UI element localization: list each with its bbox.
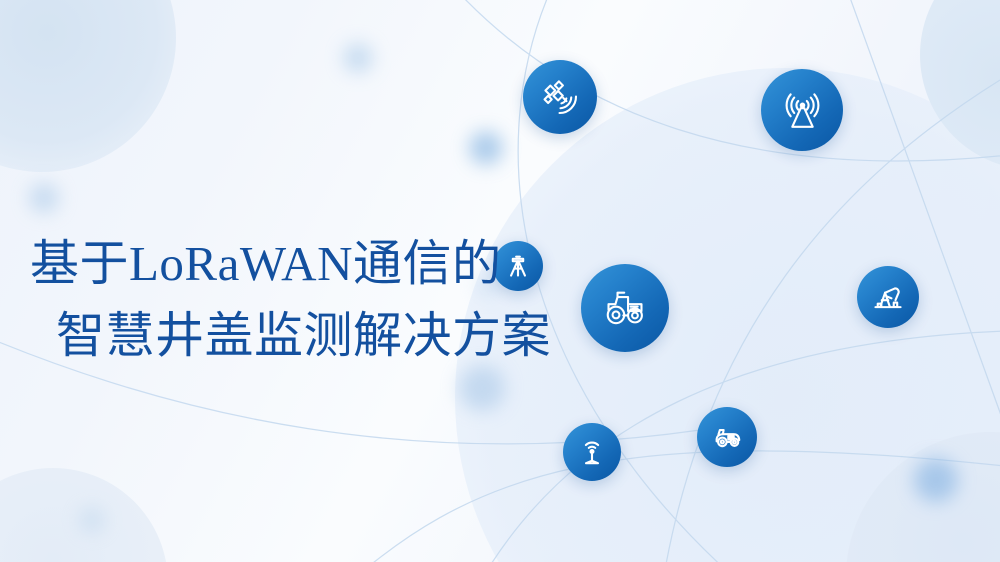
orbit-path (430, 0, 1000, 161)
accent-dot-3 (469, 131, 503, 165)
background-blob-top-left (0, 0, 176, 172)
orbit-path (330, 451, 1000, 562)
tractor-icon-glyph (602, 285, 648, 331)
satellite-dish-icon-glyph (541, 78, 579, 116)
accent-dot-1 (29, 183, 59, 213)
robot-mower-icon-glyph (712, 422, 743, 453)
title-line-2: 智慧井盖监测解决方案 (30, 300, 590, 372)
oil-pumpjack-icon (857, 266, 919, 328)
background-blob-right-edge (920, 0, 1000, 170)
tractor-icon (581, 264, 669, 352)
robot-mower-icon (697, 407, 757, 467)
background-blob-bottom-left (0, 468, 168, 562)
cover-slide: 基于LoRaWAN通信的 智慧井盖监测解决方案 (0, 0, 1000, 562)
accent-dot-5 (914, 458, 958, 502)
radio-tower-icon-glyph (781, 89, 824, 132)
oil-pumpjack-icon-glyph (872, 281, 904, 313)
accent-dot-2 (343, 43, 373, 73)
background-blob-bottom-right (846, 432, 1000, 562)
satellite-dish-icon (523, 60, 597, 134)
radio-tower-icon (761, 69, 843, 151)
title-line-1: 基于LoRaWAN通信的 (30, 228, 590, 300)
accent-dot-7 (79, 507, 105, 533)
wireless-sensor-icon (563, 423, 621, 481)
orbit-path (840, 0, 1000, 440)
accent-dot-4 (459, 365, 505, 411)
wireless-sensor-icon-glyph (577, 437, 607, 467)
page-title: 基于LoRaWAN通信的 智慧井盖监测解决方案 (30, 228, 590, 371)
orbit-path (660, 80, 1000, 562)
